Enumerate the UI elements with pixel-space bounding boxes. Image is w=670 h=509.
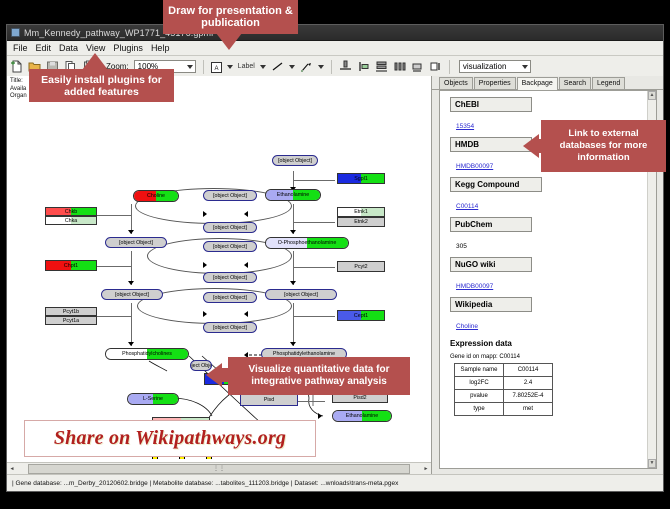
line-tool-icon[interactable] bbox=[271, 60, 284, 73]
annotation-draw-for-publication: Draw for presentation & publication bbox=[163, 0, 298, 34]
annotation-install-plugins: Easily install plugins for added feature… bbox=[29, 69, 174, 102]
metabolite-node[interactable]: [object Object] bbox=[203, 322, 257, 333]
data-node-o-phosphoethanolamine[interactable]: O-Phosphoethanolamine bbox=[265, 237, 349, 249]
arrowhead bbox=[244, 262, 248, 268]
edge bbox=[293, 251, 294, 285]
db-link-wikipedia[interactable]: Choline bbox=[456, 323, 478, 330]
window-titlebar: Mm_Kennedy_pathway_WP1771_45176.gpml bbox=[7, 25, 663, 41]
edge bbox=[97, 215, 131, 216]
status-text: | Gene database: ...m_Derby_20120602.bri… bbox=[7, 480, 398, 487]
gene-node-chpt1[interactable]: Chpt1 bbox=[45, 260, 97, 271]
node-label: Chka bbox=[46, 217, 96, 224]
menu-item-view[interactable]: View bbox=[86, 43, 105, 53]
scroll-left-icon[interactable]: ◄ bbox=[7, 464, 17, 473]
db-header-wikipedia: Wikipedia bbox=[450, 297, 532, 312]
annotation-visualize-data: Visualize quantitative data for integrat… bbox=[228, 357, 410, 395]
metabolite-node[interactable]: [object Object] bbox=[203, 241, 257, 252]
db-link-kegg[interactable]: C00114 bbox=[456, 203, 478, 210]
cell-value: C00114 bbox=[504, 364, 553, 377]
cell-key: pvalue bbox=[455, 390, 504, 403]
toolbar-separator bbox=[203, 60, 204, 74]
status-bar: | Gene database: ...m_Derby_20120602.bri… bbox=[7, 474, 663, 491]
db-header-nugo: NuGO wiki bbox=[450, 257, 532, 272]
metabolite-node[interactable]: [object Object] bbox=[203, 292, 257, 303]
pathway-info-block: Title: Availa Organ bbox=[10, 78, 27, 101]
tab-properties[interactable]: Properties bbox=[474, 77, 516, 89]
arrowhead bbox=[244, 311, 248, 317]
scroll-down-icon[interactable]: ▼ bbox=[648, 459, 656, 468]
expression-table: Sample name C00114 log2FC 2.4 pvalue 7.8… bbox=[454, 363, 553, 416]
data-node-choline[interactable]: Choline bbox=[133, 190, 179, 202]
arrowhead bbox=[290, 342, 296, 346]
arrowhead bbox=[244, 211, 248, 217]
chevron-down-icon[interactable] bbox=[318, 65, 324, 69]
menu-item-file[interactable]: File bbox=[13, 43, 28, 53]
tab-search[interactable]: Search bbox=[559, 77, 591, 89]
db-link-hmdb[interactable]: HMDB00097 bbox=[456, 163, 493, 170]
edge bbox=[293, 222, 335, 223]
annotation-share-banner: Share on Wikipathways.org bbox=[24, 420, 316, 457]
metabolite-node[interactable]: [object Object] bbox=[105, 237, 167, 248]
metabolite-node[interactable]: [object Object] bbox=[265, 289, 337, 300]
data-node-phosphatidylcholines[interactable]: Phosphatidylcholines bbox=[105, 348, 189, 360]
edge bbox=[131, 251, 132, 285]
cell-value: 2.4 bbox=[504, 377, 553, 390]
table-row: pvalue 7.80252E-4 bbox=[455, 390, 553, 403]
arrowhead bbox=[290, 281, 296, 285]
menu-item-plugins[interactable]: Plugins bbox=[113, 43, 143, 53]
cell-key: Sample name bbox=[455, 364, 504, 377]
db-header-hmdb: HMDB bbox=[450, 137, 532, 152]
label-tool-label: Label bbox=[238, 63, 255, 70]
visualization-value: visualization bbox=[463, 62, 507, 71]
chevron-down-icon[interactable] bbox=[289, 65, 295, 69]
menu-item-help[interactable]: Help bbox=[151, 43, 170, 53]
metabolite-node[interactable]: [object Object] bbox=[203, 222, 257, 233]
align-left-icon[interactable] bbox=[357, 60, 370, 73]
tab-legend[interactable]: Legend bbox=[592, 77, 625, 89]
toolbar-separator bbox=[331, 60, 332, 74]
gene-node-pcyt1b[interactable]: Pcyt1b bbox=[45, 307, 97, 316]
metabolite-node[interactable]: [object Object] bbox=[203, 272, 257, 283]
chevron-down-icon[interactable] bbox=[260, 65, 266, 69]
gene-node-etnk2[interactable]: Etnk2 bbox=[337, 217, 385, 227]
arrowhead bbox=[290, 230, 296, 234]
toolbar-separator bbox=[449, 60, 450, 74]
distribute-icon[interactable] bbox=[393, 60, 406, 73]
arrowhead bbox=[203, 311, 207, 317]
node-label: Chpt1 bbox=[46, 261, 96, 270]
annotation-external-links: Link to external databases for more info… bbox=[541, 120, 666, 172]
share-text: Share on Wikipathways.org bbox=[54, 427, 286, 450]
node-label: Cept1 bbox=[338, 311, 384, 320]
chevron-down-icon bbox=[187, 65, 193, 69]
node-label: Choline bbox=[134, 191, 178, 201]
db-value-pubchem: 305 bbox=[456, 243, 467, 250]
cell-value: met bbox=[504, 403, 553, 416]
node-label: Chkb bbox=[46, 208, 96, 215]
data-node-ethanolamine-2[interactable]: Ethanolamine bbox=[332, 410, 392, 422]
db-header-pubchem: PubChem bbox=[450, 217, 532, 232]
arrowhead bbox=[318, 413, 322, 419]
canvas-horizontal-scrollbar[interactable]: ◄ ⋮⋮ ► bbox=[7, 462, 431, 474]
edge bbox=[97, 316, 131, 317]
node-label: Pcyt1b bbox=[46, 308, 96, 315]
node-label: Pcyt2 bbox=[338, 262, 384, 271]
scroll-thumb[interactable]: ⋮⋮ bbox=[28, 464, 410, 474]
pathvisio-icon bbox=[11, 28, 20, 37]
text-tool-icon[interactable]: A bbox=[211, 60, 222, 73]
menu-item-data[interactable]: Data bbox=[59, 43, 78, 53]
gene-node-pcyt2[interactable]: Pcyt2 bbox=[337, 261, 385, 272]
annotation-pointer-left bbox=[206, 363, 222, 387]
pathway-organism-label: Organ bbox=[10, 93, 27, 101]
svg-text:A: A bbox=[214, 66, 218, 72]
node-label: O-Phosphoethanolamine bbox=[266, 238, 348, 248]
pathway-canvas[interactable]: Title: Availa Organ bbox=[7, 76, 431, 459]
node-label: Ethanolamine bbox=[333, 411, 391, 421]
pathway-canvas-panel[interactable]: Title: Availa Organ bbox=[7, 76, 432, 474]
gene-id-label: Gene id on mapp: C00114 bbox=[450, 354, 648, 360]
table-row: Sample name C00114 bbox=[455, 364, 553, 377]
cell-key: log2FC bbox=[455, 377, 504, 390]
data-node-l-serine-left[interactable]: L-Serine bbox=[127, 393, 179, 405]
scroll-right-icon[interactable]: ► bbox=[421, 464, 431, 473]
stack-icon[interactable] bbox=[375, 60, 388, 73]
visualization-combobox[interactable]: visualization bbox=[459, 60, 531, 73]
align-top-icon[interactable] bbox=[339, 60, 352, 73]
node-label: L-Serine bbox=[128, 394, 178, 404]
edge bbox=[293, 303, 294, 346]
gene-node-chka[interactable]: Chka bbox=[45, 216, 97, 225]
scroll-up-icon[interactable]: ▲ bbox=[648, 91, 656, 100]
db-link-nugo[interactable]: HMDB00097 bbox=[456, 283, 493, 290]
gene-node-pcyt1a[interactable]: Pcyt1a bbox=[45, 316, 97, 325]
annotation-pointer-left bbox=[523, 134, 539, 158]
edge bbox=[293, 180, 335, 181]
screenshot-root: Mm_Kennedy_pathway_WP1771_45176.gpml Fil… bbox=[0, 0, 670, 509]
cell-value: 7.80252E-4 bbox=[504, 390, 553, 403]
arrowhead bbox=[128, 342, 134, 346]
edge bbox=[293, 267, 335, 268]
gene-node-etnk1[interactable]: Etnk1 bbox=[337, 207, 385, 217]
edge bbox=[293, 316, 335, 317]
db-header-chebi: ChEBI bbox=[450, 97, 532, 112]
tab-objects[interactable]: Objects bbox=[439, 77, 473, 89]
chevron-down-icon bbox=[522, 65, 528, 69]
pathway-title-label: Title: bbox=[10, 78, 27, 86]
node-label: Phosphatidylcholines bbox=[106, 349, 188, 359]
annotation-pointer-up bbox=[82, 53, 108, 70]
order-icon[interactable] bbox=[429, 60, 442, 73]
tab-backpage[interactable]: Backpage bbox=[517, 77, 558, 90]
edge bbox=[131, 303, 132, 346]
node-label: Etnk2 bbox=[338, 218, 384, 226]
arrowhead bbox=[128, 230, 134, 234]
gene-node-cept1[interactable]: Cept1 bbox=[337, 310, 385, 321]
data-node-ethanolamine[interactable]: Ethanolamine bbox=[265, 189, 321, 201]
node-label: Sgpl1 bbox=[338, 174, 384, 183]
group-icon[interactable] bbox=[411, 60, 424, 73]
metabolite-node[interactable]: [object Object] bbox=[101, 289, 163, 300]
db-header-kegg: Kegg Compound bbox=[450, 177, 542, 192]
new-file-icon[interactable] bbox=[10, 60, 23, 73]
table-row: type met bbox=[455, 403, 553, 416]
node-label: Etnk1 bbox=[338, 208, 384, 216]
arrowhead bbox=[203, 262, 207, 268]
expression-data-title: Expression data bbox=[450, 339, 648, 348]
metabolite-node[interactable]: [object Object] bbox=[203, 190, 257, 201]
node-label: Ethanolamine bbox=[266, 190, 320, 200]
metabolite-node[interactable]: [object Object] bbox=[272, 155, 318, 166]
gene-node-chkb[interactable]: Chkb bbox=[45, 207, 97, 216]
gene-node-sgpl1[interactable]: Sgpl1 bbox=[337, 173, 385, 184]
chevron-down-icon[interactable] bbox=[227, 65, 233, 69]
arrowhead bbox=[128, 281, 134, 285]
pathway-available-label: Availa bbox=[10, 86, 27, 94]
interaction-tool-icon[interactable] bbox=[300, 60, 313, 73]
edge bbox=[297, 401, 325, 402]
annotation-pointer-down bbox=[216, 33, 242, 50]
edge bbox=[97, 266, 131, 267]
cell-key: type bbox=[455, 403, 504, 416]
table-row: log2FC 2.4 bbox=[455, 377, 553, 390]
side-panel-tabs: Objects Properties Backpage Search Legen… bbox=[432, 76, 663, 90]
arrowhead bbox=[203, 211, 207, 217]
db-link-chebi[interactable]: 15354 bbox=[456, 123, 474, 130]
menu-item-edit[interactable]: Edit bbox=[36, 43, 52, 53]
node-label: Pcyt1a bbox=[46, 317, 96, 324]
